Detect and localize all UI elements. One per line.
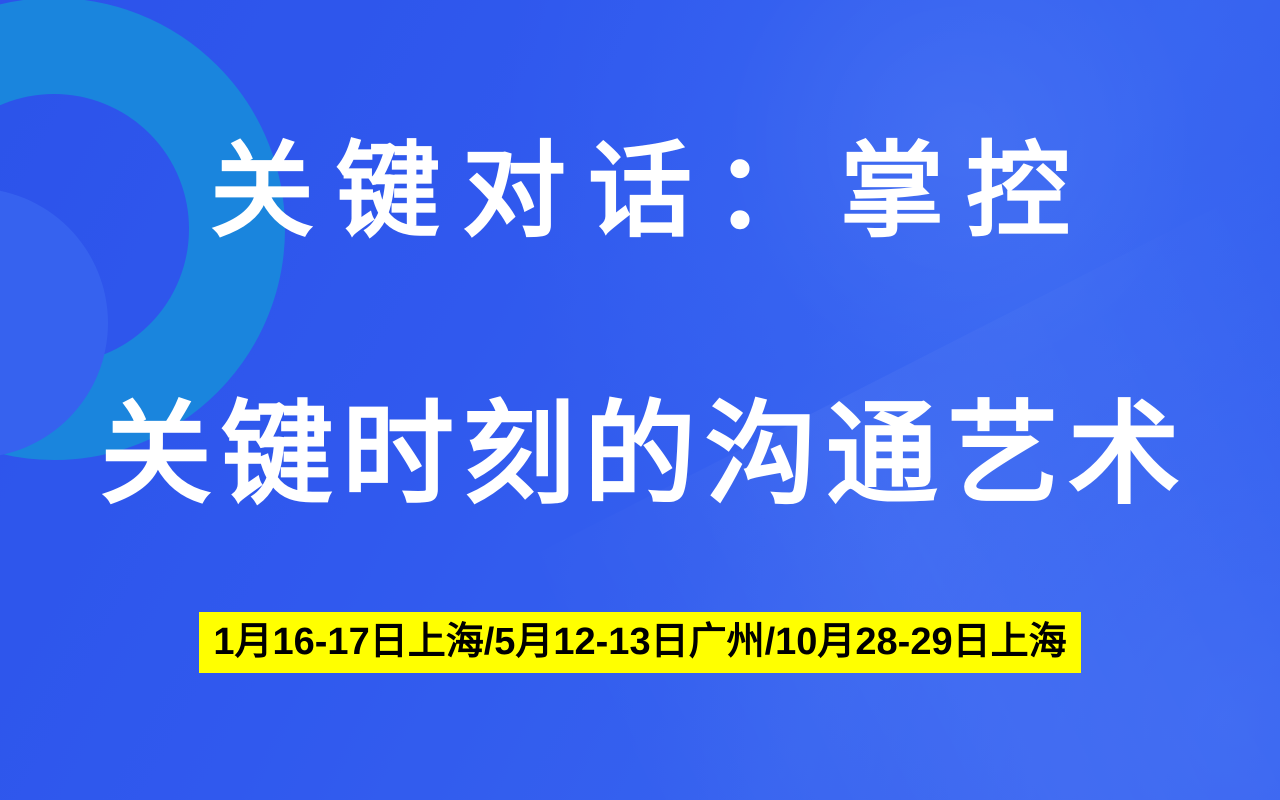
poster-content: 关键对话：掌控 关键时刻的沟通艺术 1月16-17日上海/5月12-13日广州/… bbox=[0, 0, 1280, 800]
date-bar-container: 1月16-17日上海/5月12-13日广州/10月28-29日上海 bbox=[0, 612, 1280, 673]
title-line-1: 关键对话：掌控 bbox=[0, 135, 1280, 249]
schedule-highlight-bar: 1月16-17日上海/5月12-13日广州/10月28-29日上海 bbox=[199, 612, 1080, 673]
promo-poster: 关键对话：掌控 关键时刻的沟通艺术 1月16-17日上海/5月12-13日广州/… bbox=[0, 0, 1280, 800]
title-line-2: 关键时刻的沟通艺术 bbox=[0, 393, 1280, 516]
